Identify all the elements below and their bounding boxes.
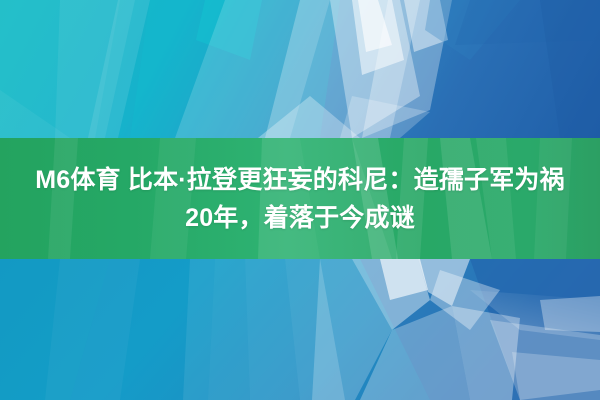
bottom-facets (0, 259, 600, 400)
headline-line-2: 20年，着落于今成谜 (185, 199, 415, 237)
headline-text-block: M6体育 比本·拉登更狂妄的科尼：造孺子军为祸 20年，着落于今成谜 (0, 138, 600, 259)
headline-line-1: M6体育 比本·拉登更狂妄的科尼：造孺子军为祸 (35, 161, 565, 199)
article-banner-image: M6体育 比本·拉登更狂妄的科尼：造孺子军为祸 20年，着落于今成谜 (0, 0, 600, 400)
